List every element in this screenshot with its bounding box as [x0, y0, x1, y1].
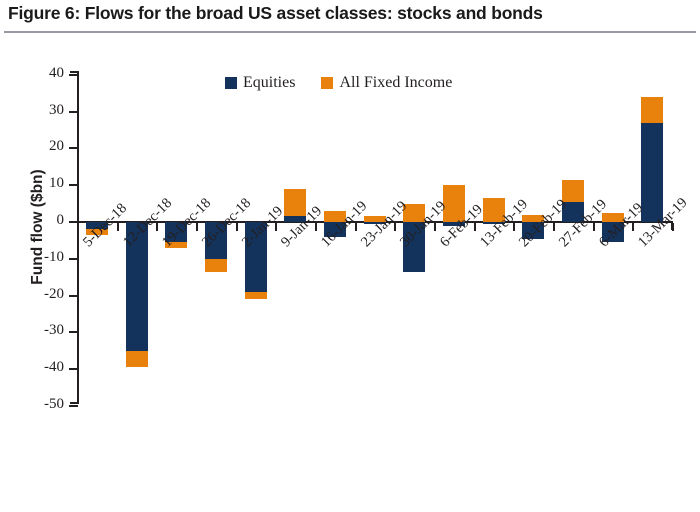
y-tick-label: 0: [24, 212, 64, 229]
legend-item-all-fixed-income[interactable]: All Fixed Income: [321, 74, 452, 92]
bar-segment[interactable]: [562, 180, 584, 202]
y-tick-mark: [69, 368, 78, 370]
bar-segment[interactable]: [126, 351, 148, 368]
y-tick-mark: [69, 331, 78, 333]
y-tick-label: 30: [24, 102, 64, 119]
y-tick-label: -30: [24, 322, 64, 339]
bar-segment[interactable]: [641, 97, 663, 123]
y-tick-label: -40: [24, 359, 64, 376]
legend: Equities All Fixed Income: [225, 74, 452, 92]
bar-segment[interactable]: [245, 292, 267, 299]
title-divider: [4, 31, 696, 33]
legend-label-all-fixed-income: All Fixed Income: [339, 74, 452, 92]
legend-swatch-equities: [225, 77, 237, 89]
y-tick-mark: [69, 258, 78, 260]
legend-label-equities: Equities: [243, 74, 295, 92]
y-axis-bottom-cap: [70, 402, 79, 404]
figure-title: Figure 6: Flows for the broad US asset c…: [8, 3, 698, 24]
y-tick-mark: [69, 405, 78, 407]
legend-item-equities[interactable]: Equities: [225, 74, 295, 92]
legend-swatch-all-fixed-income: [321, 77, 333, 89]
y-tick-label: -50: [24, 396, 64, 413]
y-tick-mark: [69, 111, 78, 113]
y-tick-label: 10: [24, 175, 64, 192]
y-tick-mark: [69, 184, 78, 186]
y-tick-label: 40: [24, 65, 64, 82]
y-tick-label: -10: [24, 249, 64, 266]
y-tick-mark: [69, 295, 78, 297]
y-tick-label: -20: [24, 286, 64, 303]
y-axis-line: [77, 71, 79, 404]
bar-segment[interactable]: [641, 123, 663, 222]
x-tick-mark: [77, 223, 79, 231]
y-axis-top-cap: [70, 71, 79, 73]
y-tick-label: 20: [24, 138, 64, 155]
y-tick-mark: [69, 147, 78, 149]
bar-segment[interactable]: [205, 259, 227, 272]
y-tick-mark: [69, 74, 78, 76]
figure-container: Figure 6: Flows for the broad US asset c…: [0, 0, 700, 512]
